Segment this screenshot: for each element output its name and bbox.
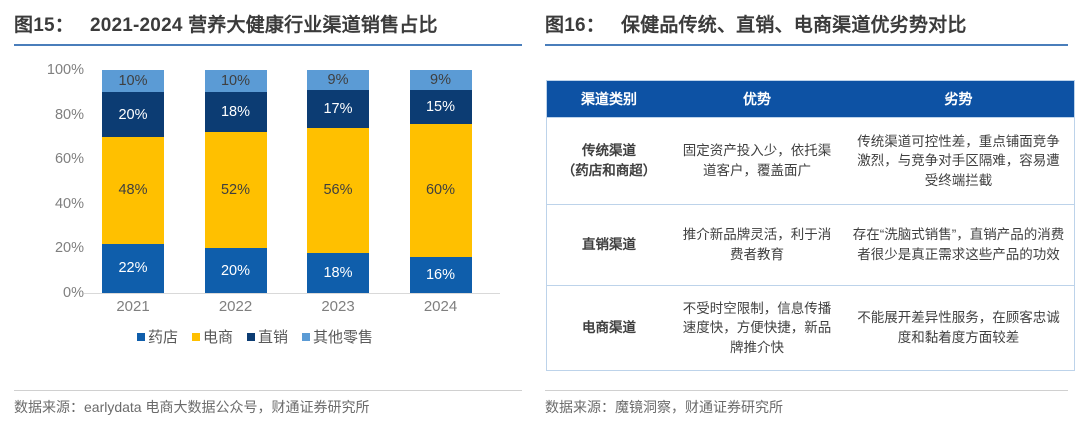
figure-15-title: 2021-2024 营养大健康行业渠道销售占比	[90, 10, 438, 37]
legend-label: 直销	[258, 326, 288, 347]
bar-value-label: 60%	[426, 182, 455, 198]
plot-area: 10%20%48%22%10%18%52%20%9%17%56%18%9%15%…	[92, 70, 492, 293]
column-header-disadvantage: 劣势	[843, 81, 1075, 118]
bar-segment-电商: 48%	[102, 137, 164, 244]
bar-segment-药店: 22%	[102, 244, 164, 293]
bar-value-label: 10%	[118, 73, 147, 89]
figure-16-source: 数据来源：魔镜洞察，财通证券研究所	[545, 397, 783, 417]
y-axis-tick: 20%	[55, 240, 84, 256]
table-header-row: 渠道类别 优势 劣势	[547, 81, 1075, 118]
figure-16-number: 图16：	[545, 10, 605, 37]
figure-15-panel: 图15： 2021-2024 营养大健康行业渠道销售占比 0%20%40%60%…	[0, 0, 530, 439]
table-row: 电商渠道 不受时空限制，信息传播速度快，方便快捷，新品牌推介快 不能展开差异性服…	[547, 286, 1075, 371]
bar-segment-药店: 16%	[410, 257, 472, 293]
y-axis-tick: 80%	[55, 107, 84, 123]
legend-label: 其他零售	[313, 326, 373, 347]
bar-value-label: 20%	[221, 263, 250, 279]
bar-value-label: 56%	[323, 182, 352, 198]
x-axis-tick-2023: 2023	[307, 298, 369, 315]
bar-2023: 9%17%56%18%	[307, 70, 369, 293]
x-axis-tick-2022: 2022	[205, 298, 267, 315]
table-row: 直销渠道 推介新品牌灵活，利于消费者教育 存在“洗脑式销售”，直销产品的消费者很…	[547, 205, 1075, 286]
figure-16-footer-rule	[545, 390, 1068, 391]
figure-15-source: 数据来源：earlydata 电商大数据公众号，财通证券研究所	[14, 397, 369, 417]
y-axis-tick: 60%	[55, 151, 84, 167]
legend-swatch-icon	[302, 333, 310, 341]
bar-segment-其他零售: 9%	[410, 70, 472, 90]
bar-value-label: 9%	[430, 72, 451, 88]
bar-segment-直销: 18%	[205, 92, 267, 132]
cell-disadvantage: 传统渠道可控性差，重点铺面竞争激烈，与竞争对手区隔难，容易遭受终端拦截	[843, 118, 1075, 205]
bar-value-label: 9%	[328, 72, 349, 88]
bar-segment-药店: 20%	[205, 248, 267, 293]
y-axis-tick: 0%	[63, 285, 84, 301]
bar-value-label: 48%	[118, 182, 147, 198]
bar-value-label: 22%	[118, 260, 147, 276]
table-body: 传统渠道（药店和商超） 固定资产投入少，依托渠道客户，覆盖面广 传统渠道可控性差…	[547, 118, 1075, 371]
bar-segment-其他零售: 9%	[307, 70, 369, 90]
bar-segment-电商: 56%	[307, 128, 369, 253]
channel-comparison-table: 渠道类别 优势 劣势 传统渠道（药店和商超） 固定资产投入少，依托渠道客户，覆盖…	[546, 80, 1075, 371]
bar-value-label: 10%	[221, 73, 250, 89]
x-axis-tick-2024: 2024	[410, 298, 472, 315]
legend-item-电商[interactable]: 电商	[192, 326, 233, 347]
table-header: 渠道类别 优势 劣势	[547, 81, 1075, 118]
cell-category: 电商渠道	[547, 286, 672, 371]
cell-category: 直销渠道	[547, 205, 672, 286]
cell-advantage: 固定资产投入少，依托渠道客户，覆盖面广	[671, 118, 843, 205]
figure-16-title: 保健品传统、直销、电商渠道优劣势对比	[621, 10, 967, 37]
figure-16-panel: 图16： 保健品传统、直销、电商渠道优劣势对比 渠道类别 优势 劣势 传统渠道（…	[535, 0, 1080, 439]
figure-16-heading: 图16： 保健品传统、直销、电商渠道优劣势对比	[545, 10, 1072, 37]
legend-item-直销[interactable]: 直销	[247, 326, 288, 347]
x-axis-baseline	[84, 293, 500, 294]
bar-2024: 9%15%60%16%	[410, 70, 472, 293]
bar-value-label: 18%	[323, 265, 352, 281]
cell-advantage: 不受时空限制，信息传播速度快，方便快捷，新品牌推介快	[671, 286, 843, 371]
bar-segment-其他零售: 10%	[205, 70, 267, 92]
y-axis-tick: 40%	[55, 196, 84, 212]
legend-item-药店[interactable]: 药店	[137, 326, 178, 347]
bar-segment-直销: 15%	[410, 90, 472, 123]
legend-swatch-icon	[247, 333, 255, 341]
bar-value-label: 18%	[221, 104, 250, 120]
cell-disadvantage: 不能展开差异性服务，在顾客忠诚度和黏着度方面较差	[843, 286, 1075, 371]
legend-item-其他零售[interactable]: 其他零售	[302, 326, 373, 347]
channel-sales-stacked-bar-chart: 0%20%40%60%80%100% 10%20%48%22%10%18%52%…	[0, 52, 530, 362]
figure-15-title-rule	[14, 44, 522, 46]
bar-segment-电商: 60%	[410, 124, 472, 258]
figure-16-title-rule	[545, 44, 1068, 46]
y-axis-tick-labels: 0%20%40%60%80%100%	[0, 70, 84, 293]
bar-value-label: 20%	[118, 107, 147, 123]
table-row: 传统渠道（药店和商超） 固定资产投入少，依托渠道客户，覆盖面广 传统渠道可控性差…	[547, 118, 1075, 205]
report-page: 图15： 2021-2024 营养大健康行业渠道销售占比 0%20%40%60%…	[0, 0, 1080, 439]
cell-disadvantage: 存在“洗脑式销售”，直销产品的消费者很少是真正需求这些产品的功效	[843, 205, 1075, 286]
chart-legend: 药店电商直销其他零售	[0, 326, 510, 347]
legend-swatch-icon	[192, 333, 200, 341]
bar-2022: 10%18%52%20%	[205, 70, 267, 293]
figure-15-number: 图15：	[14, 10, 74, 37]
bar-segment-电商: 52%	[205, 132, 267, 248]
bar-2021: 10%20%48%22%	[102, 70, 164, 293]
column-header-category: 渠道类别	[547, 81, 672, 118]
bar-value-label: 52%	[221, 182, 250, 198]
figure-15-heading: 图15： 2021-2024 营养大健康行业渠道销售占比	[14, 10, 522, 37]
x-axis-tick-labels: 2021202220232024	[92, 298, 492, 320]
figure-15-footer-rule	[14, 390, 522, 391]
bar-segment-直销: 20%	[102, 92, 164, 137]
cell-category: 传统渠道（药店和商超）	[547, 118, 672, 205]
cell-advantage: 推介新品牌灵活，利于消费者教育	[671, 205, 843, 286]
y-axis-tick: 100%	[47, 62, 84, 78]
bar-value-label: 15%	[426, 99, 455, 115]
legend-label: 药店	[148, 326, 178, 347]
legend-swatch-icon	[137, 333, 145, 341]
bar-value-label: 16%	[426, 267, 455, 283]
column-header-advantage: 优势	[671, 81, 843, 118]
x-axis-tick-2021: 2021	[102, 298, 164, 315]
bar-value-label: 17%	[323, 101, 352, 117]
bar-segment-其他零售: 10%	[102, 70, 164, 92]
bar-segment-直销: 17%	[307, 90, 369, 128]
bar-segment-药店: 18%	[307, 253, 369, 293]
legend-label: 电商	[203, 326, 233, 347]
